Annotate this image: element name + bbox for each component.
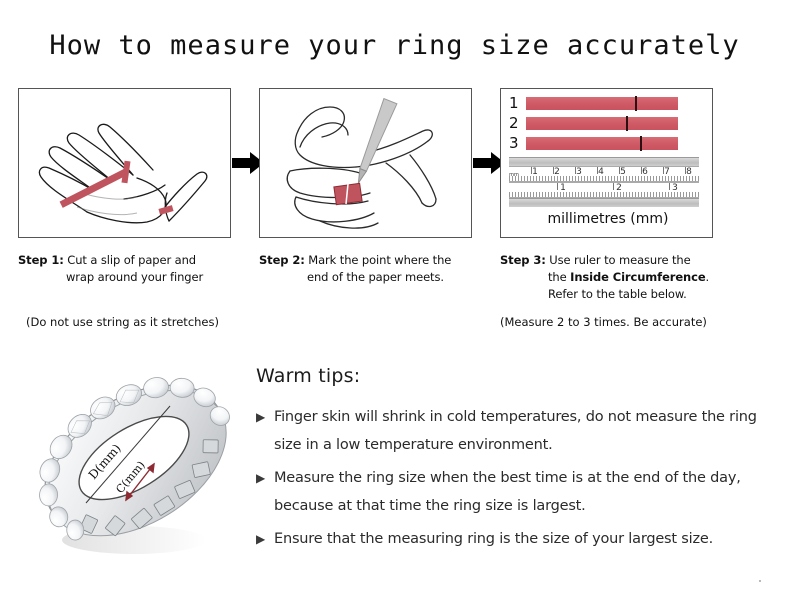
strip-mark xyxy=(635,96,637,111)
steps-row: 1 2 3 mm 1 2 3 4 5 6 7 8 xyxy=(0,88,789,248)
step-3-line2-end: . xyxy=(706,270,710,284)
step-3-illustration-panel: 1 2 3 mm 1 2 3 4 5 6 7 8 xyxy=(500,88,713,238)
step-2-illustration-panel xyxy=(259,88,472,238)
paper-strips-group: 1 2 3 xyxy=(509,95,707,155)
hand-marking-paper-icon xyxy=(260,89,470,236)
step-1-label: Step 1: xyxy=(18,253,64,267)
ring-diagram: D(mm) C(mm) xyxy=(22,358,252,573)
ruler-unit-caption: millimetres (mm) xyxy=(509,211,707,227)
strip-number: 3 xyxy=(509,136,526,151)
step-3-line3: Refer to the table below. xyxy=(500,286,770,303)
step-3-line2-prefix: the xyxy=(548,270,570,284)
ruler-inch-scale: 1 2 3 xyxy=(509,182,699,198)
strip-mark xyxy=(626,116,628,131)
corner-artifact-dot xyxy=(759,580,761,582)
ruler-cm-scale: mm 1 2 3 4 5 6 7 8 xyxy=(509,166,699,182)
ruler-icon: mm 1 2 3 4 5 6 7 8 1 2 3 xyxy=(509,157,699,207)
step-2-line1: Mark the point where the xyxy=(308,253,451,267)
strip-number: 1 xyxy=(509,96,526,111)
step-3-note: (Measure 2 to 3 times. Be accurate) xyxy=(500,315,707,329)
hand-with-paper-slip-icon xyxy=(19,89,229,236)
ruler-metal-edge-top xyxy=(509,157,699,166)
warm-tips-title: Warm tips: xyxy=(256,365,776,387)
tip-item: ▶ Measure the ring size when the best ti… xyxy=(256,464,776,520)
bullet-triangle-icon: ▶ xyxy=(256,403,274,431)
step-2-line2: end of the paper meets. xyxy=(259,269,491,286)
step-2-label: Step 2: xyxy=(259,253,305,267)
step-1-note: (Do not use string as it stretches) xyxy=(26,315,219,329)
page-title: How to measure your ring size accurately xyxy=(0,30,789,61)
paper-strip xyxy=(526,117,678,130)
tip-text: Measure the ring size when the best time… xyxy=(274,464,776,520)
warm-tips-section: Warm tips: ▶ Finger skin will shrink in … xyxy=(256,365,776,558)
bullet-triangle-icon: ▶ xyxy=(256,464,274,492)
ruler-inch-minor-ticks xyxy=(509,192,699,197)
paper-strip xyxy=(526,97,678,110)
paper-strip xyxy=(526,137,678,150)
step-3-inside-circumference: Inside Circumference xyxy=(570,270,705,284)
step-1-caption: Step 1: Cut a slip of paper and wrap aro… xyxy=(18,252,250,286)
step-3-label: Step 3: xyxy=(500,253,546,267)
step-3-line1: Use ruler to measure the xyxy=(549,253,690,267)
step-1-line2: wrap around your finger xyxy=(18,269,250,286)
paper-strip-row: 2 xyxy=(509,115,707,132)
step-1-illustration-panel xyxy=(18,88,231,238)
paper-strip-row: 3 xyxy=(509,135,707,152)
ruler-cm-minor-ticks xyxy=(509,176,699,181)
step-3-line2: the Inside Circumference. xyxy=(500,269,770,286)
strip-number: 2 xyxy=(509,116,526,131)
tip-item: ▶ Ensure that the measuring ring is the … xyxy=(256,525,776,553)
tip-text: Ensure that the measuring ring is the si… xyxy=(274,525,713,553)
strip-mark xyxy=(640,136,642,151)
step-2-caption: Step 2: Mark the point where the end of … xyxy=(259,252,491,286)
paper-strip-row: 1 xyxy=(509,95,707,112)
step-1-line1: Cut a slip of paper and xyxy=(67,253,196,267)
tip-item: ▶ Finger skin will shrink in cold temper… xyxy=(256,403,776,459)
step-3-caption: Step 3: Use ruler to measure the the Ins… xyxy=(500,252,770,303)
ruler-metal-edge-bottom xyxy=(509,198,699,207)
tip-text: Finger skin will shrink in cold temperat… xyxy=(274,403,776,459)
bullet-triangle-icon: ▶ xyxy=(256,525,274,553)
diamond-eternity-ring-diagram: D(mm) C(mm) xyxy=(22,358,252,573)
